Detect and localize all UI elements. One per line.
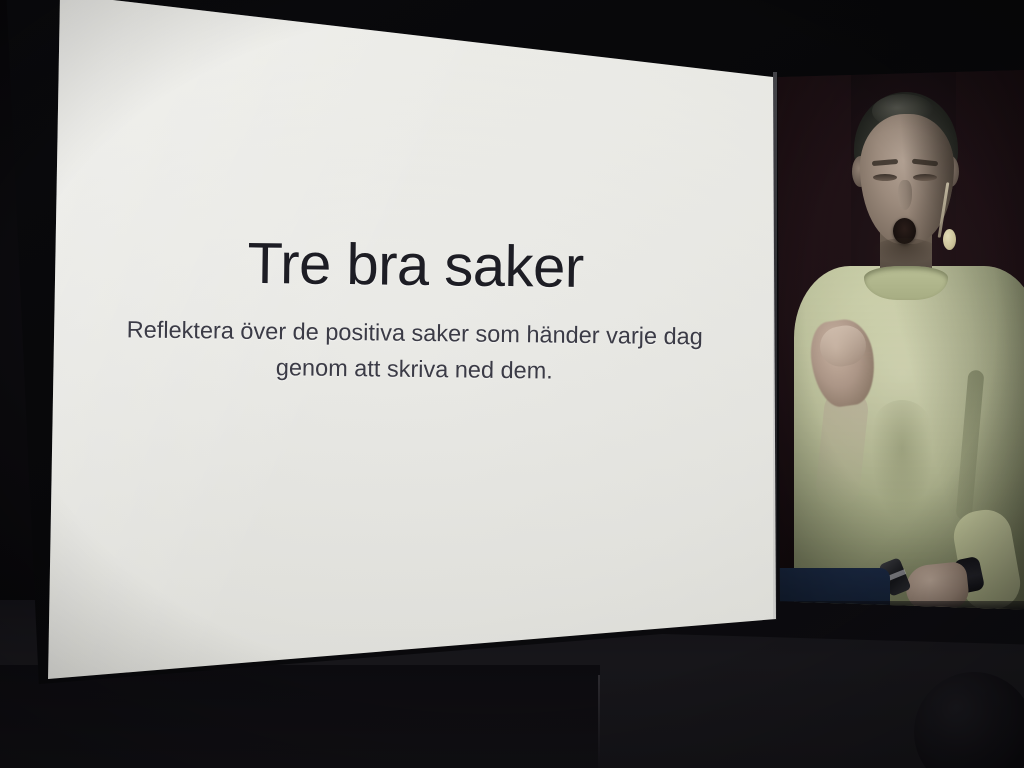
speaker-chin-shadow	[872, 238, 938, 264]
room-lower-wall-left	[0, 665, 600, 768]
slide-title: Tre bra saker	[95, 232, 736, 301]
speaker-video-feed	[776, 70, 1024, 615]
speaker-eye-left	[873, 174, 897, 181]
slide-subtitle: Reflektera över de positiva saker som hä…	[94, 311, 735, 392]
wall-panel-seam	[598, 675, 600, 768]
speaker-nose	[898, 180, 912, 210]
speaker-fabric-fold	[872, 400, 932, 520]
slide-text-block: Tre bra saker Reflektera över de positiv…	[94, 232, 736, 392]
slide-subtitle-line-1: Reflektera över de positiva saker som hä…	[127, 316, 703, 349]
panel-gap-highlight	[773, 72, 777, 620]
headset-mic-icon	[943, 229, 956, 250]
screenshot-root: Tre bra saker Reflektera över de positiv…	[0, 0, 1024, 768]
speaker-eye-right	[913, 174, 937, 181]
slide-subtitle-line-2: genom att skriva ned dem.	[276, 355, 553, 384]
speaker-collar	[864, 266, 948, 300]
